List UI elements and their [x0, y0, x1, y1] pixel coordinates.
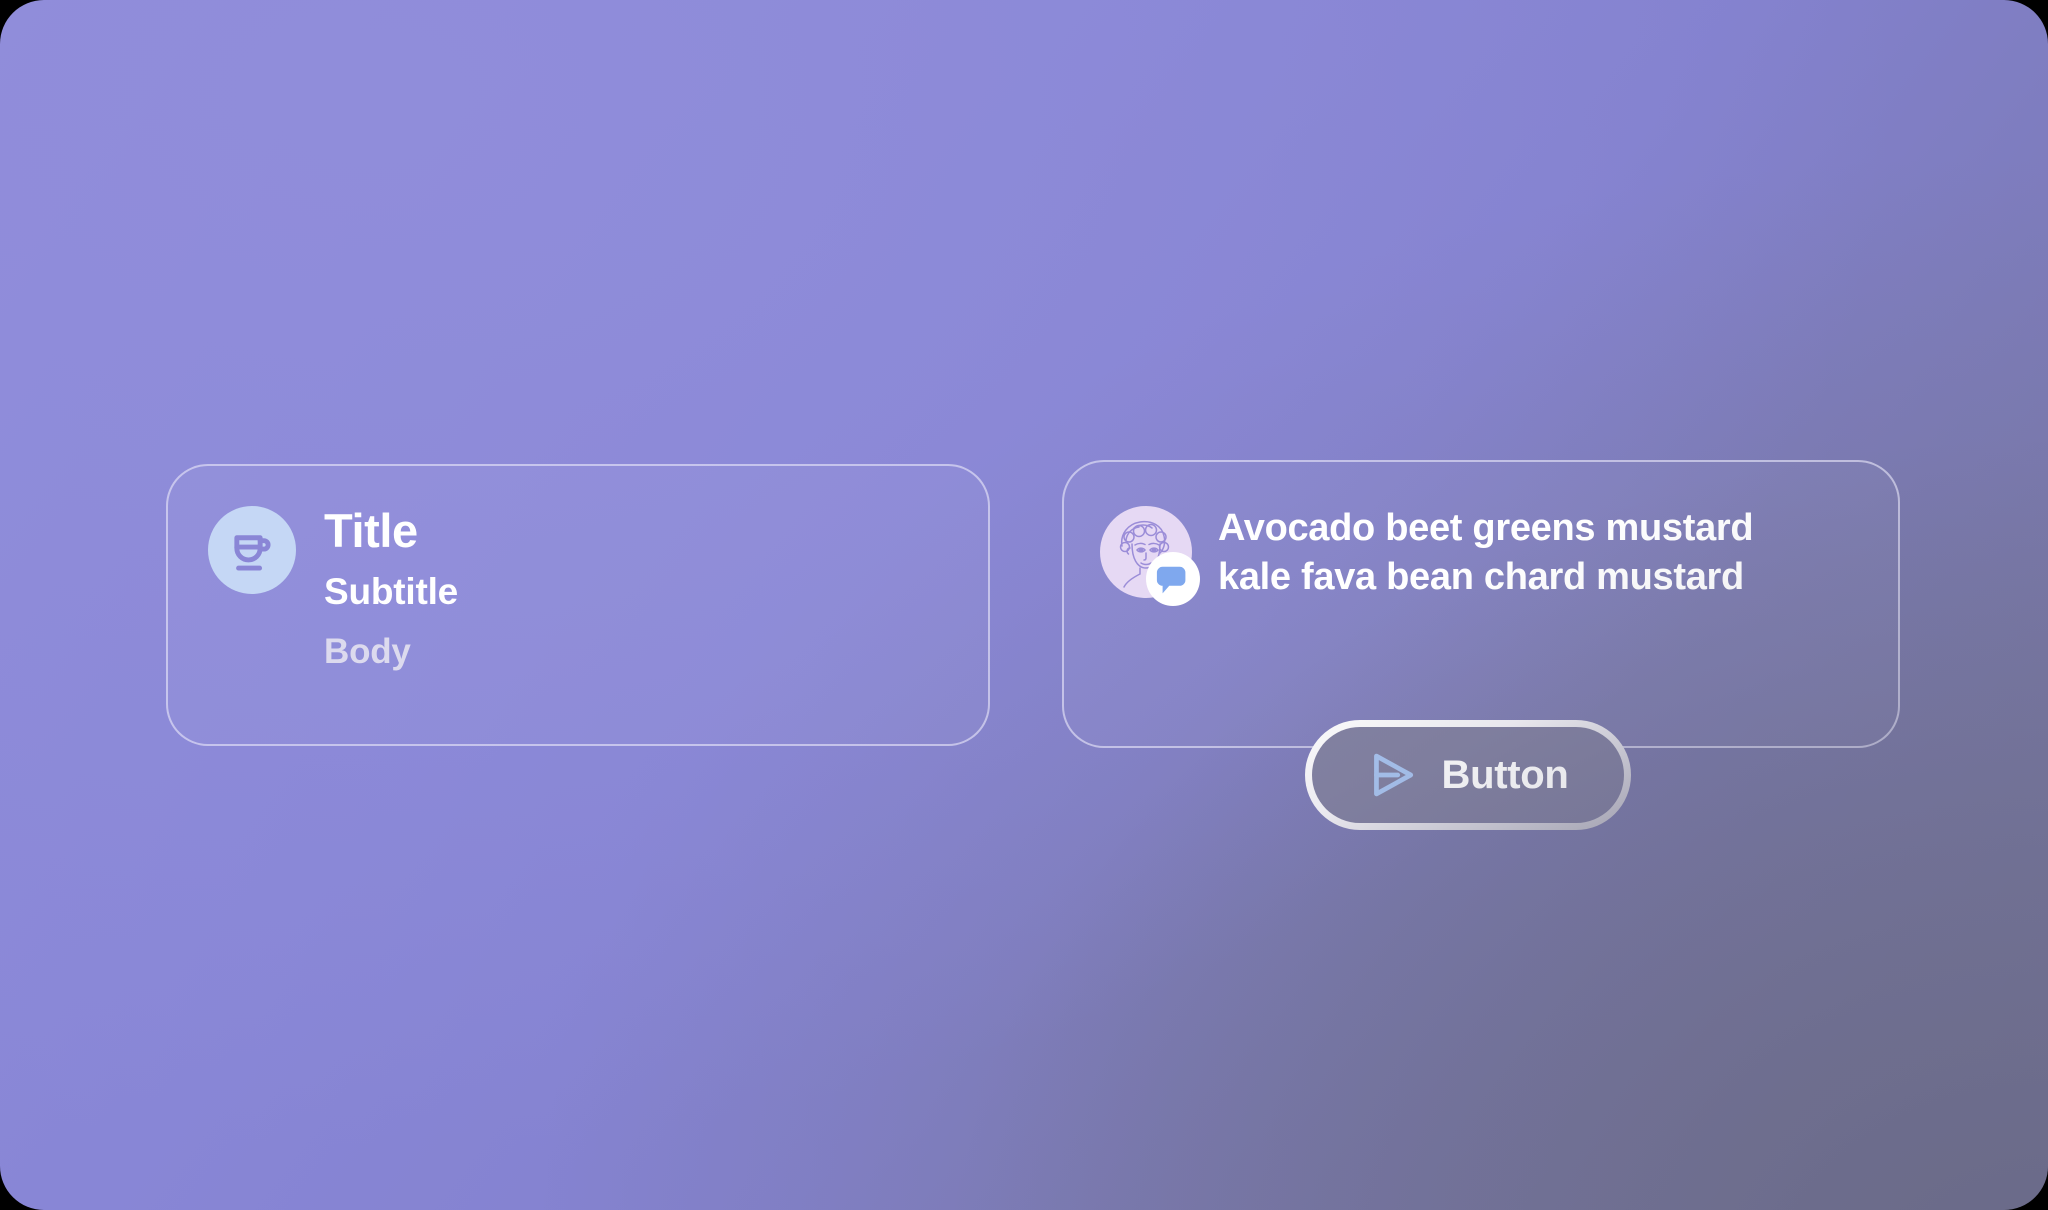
list-item-card[interactable]: Title Subtitle Body	[166, 464, 990, 746]
send-button-label: Button	[1441, 753, 1568, 798]
coffee-cup-icon	[208, 506, 296, 594]
avatar-with-badge	[1100, 506, 1192, 598]
message-text: Avocado beet greens mustard kale fava be…	[1218, 500, 1828, 603]
send-button[interactable]: Button	[1305, 720, 1631, 830]
screen-canvas: Title Subtitle Body	[0, 0, 2048, 1210]
cards-row: Title Subtitle Body	[0, 0, 2048, 1210]
send-icon	[1367, 749, 1419, 801]
chat-bubble-badge	[1146, 552, 1200, 606]
card-title: Title	[324, 506, 458, 557]
left-card-text: Title Subtitle Body	[324, 504, 458, 671]
card-body: Body	[324, 632, 458, 671]
card-subtitle: Subtitle	[324, 571, 458, 612]
message-card[interactable]: Avocado beet greens mustard kale fava be…	[1062, 460, 1900, 748]
